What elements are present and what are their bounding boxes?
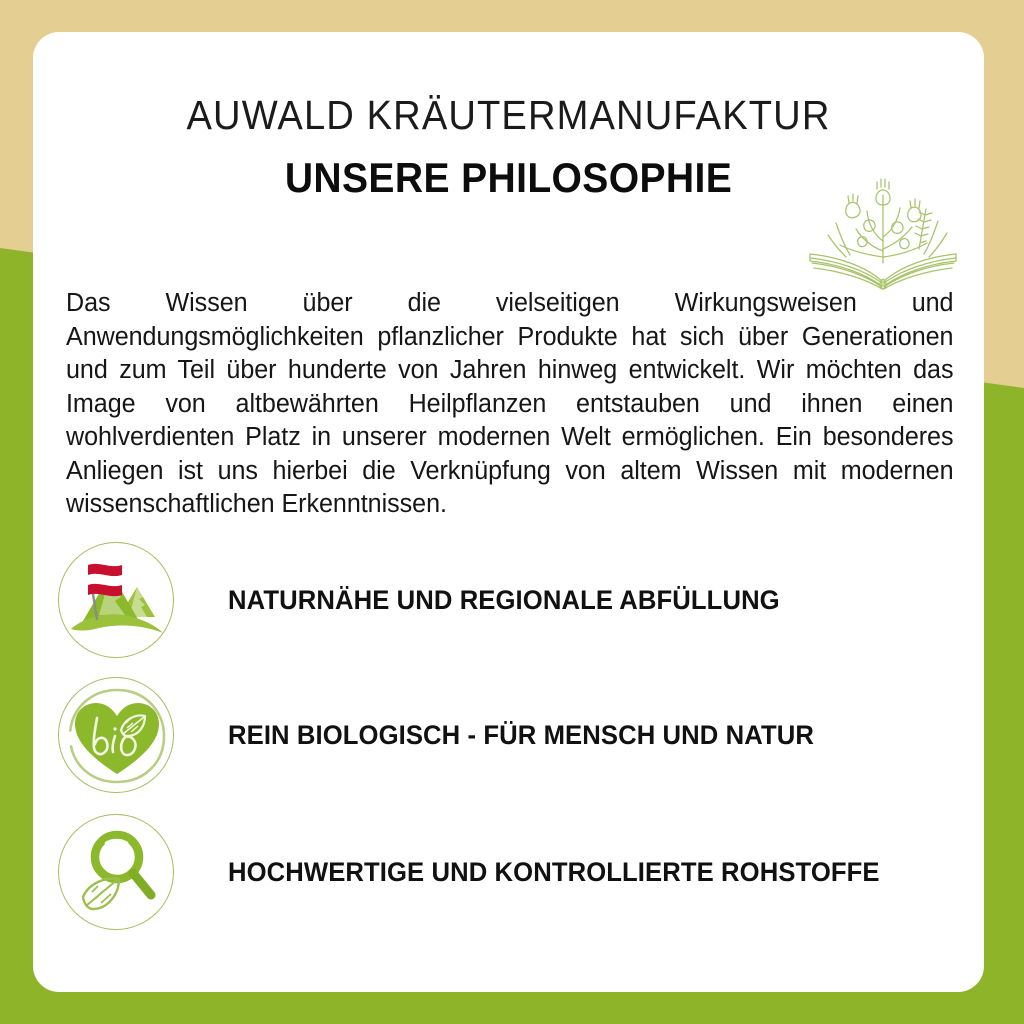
header: AUWALD KRÄUTERMANUFAKTUR UNSERE PHILOSOP… <box>33 32 984 222</box>
feature-row: NATURNÄHE UND REGIONALE ABFÜLLUNG <box>58 542 968 658</box>
philosophy-paragraph: Das Wissen über die vielseitigen Wirkung… <box>66 287 953 522</box>
mountain-with-austrian-flag-icon <box>58 542 174 658</box>
open-book-with-herbs-icon <box>788 165 978 290</box>
bio-heart-leaf-icon <box>58 677 174 793</box>
feature-row: HOCHWERTIGE UND KONTROLLIERTE ROHSTOFFE <box>58 814 968 930</box>
content-card: AUWALD KRÄUTERMANUFAKTUR UNSERE PHILOSOP… <box>33 32 984 992</box>
feature-label: REIN BIOLOGISCH - FÜR MENSCH UND NATUR <box>228 720 814 751</box>
feature-label: NATURNÄHE UND REGIONALE ABFÜLLUNG <box>228 585 780 616</box>
magnifier-with-leaf-icon <box>58 814 174 930</box>
feature-row: REIN BIOLOGISCH - FÜR MENSCH UND NATUR <box>58 677 968 793</box>
feature-label: HOCHWERTIGE UND KONTROLLIERTE ROHSTOFFE <box>228 857 880 888</box>
page-title: AUWALD KRÄUTERMANUFAKTUR <box>66 92 950 139</box>
poster-canvas: AUWALD KRÄUTERMANUFAKTUR UNSERE PHILOSOP… <box>0 0 1024 1024</box>
